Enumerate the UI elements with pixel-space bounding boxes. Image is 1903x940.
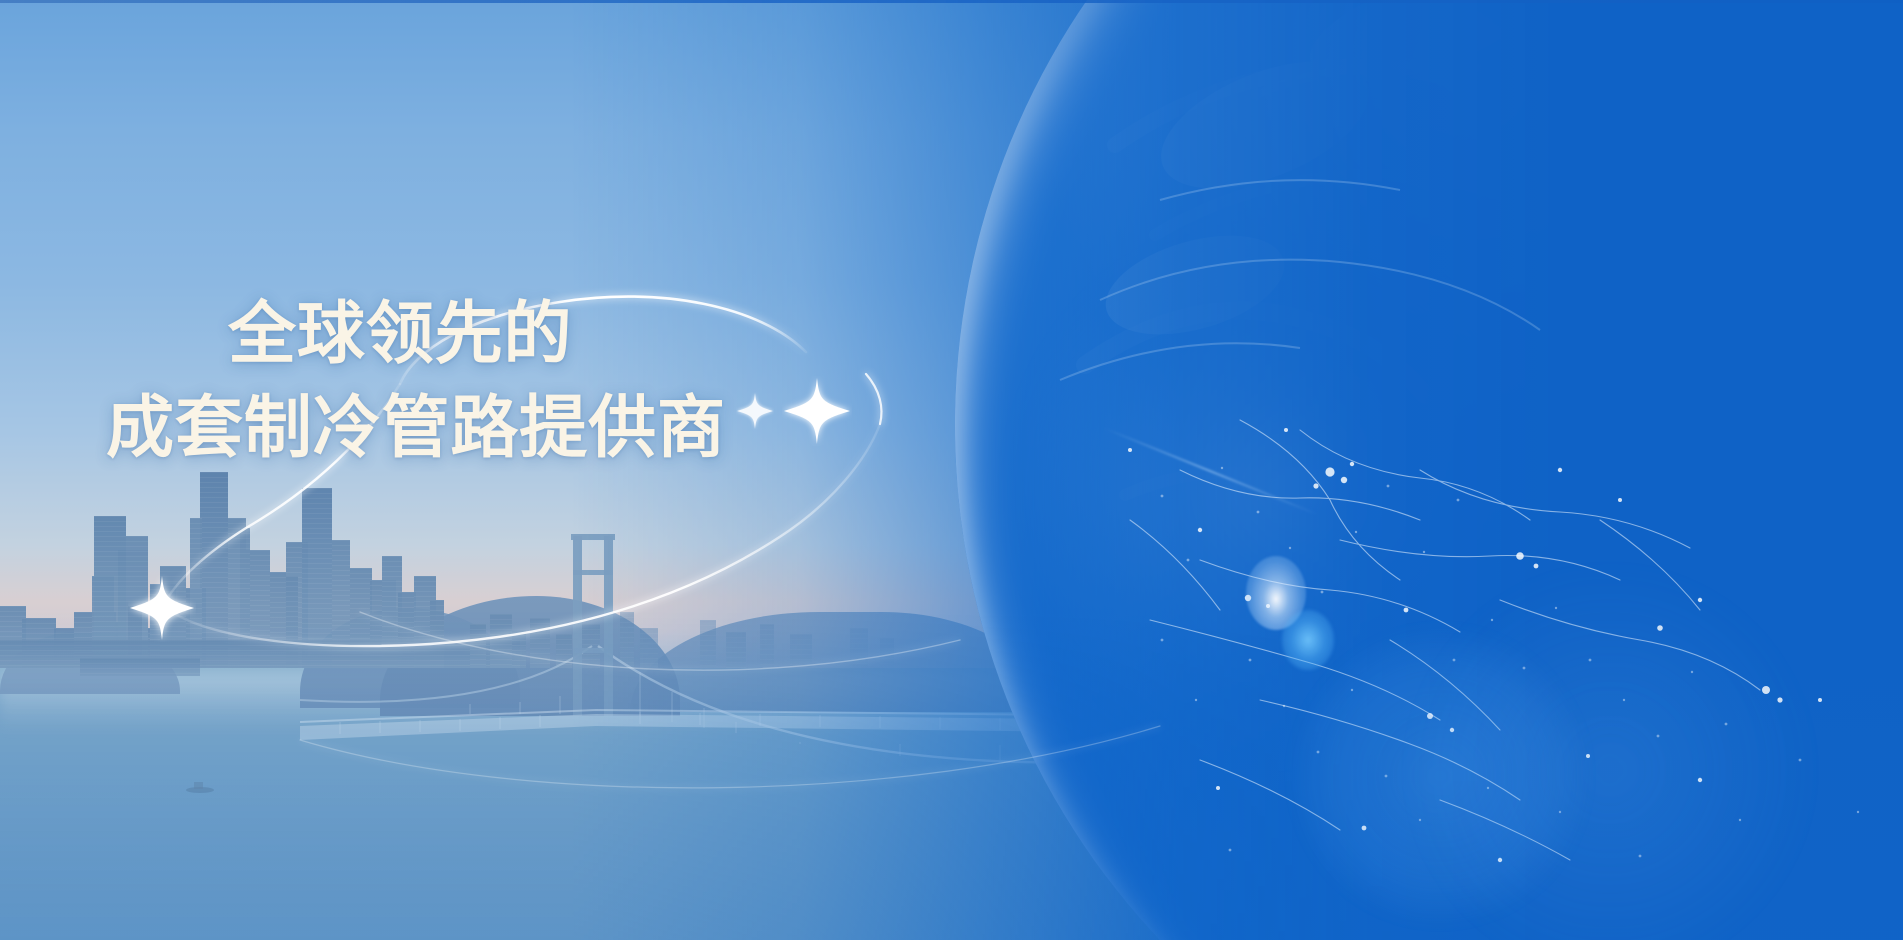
bottom-tint-overlay <box>0 610 1903 940</box>
top-edge-line <box>0 0 1903 3</box>
hero-banner: 全球领先的 成套制冷管路提供商 <box>0 0 1903 940</box>
headline-line-1: 全球领先的 <box>228 300 726 368</box>
hero-headline: 全球领先的 成套制冷管路提供商 <box>106 300 726 462</box>
headline-line-2: 成套制冷管路提供商 <box>106 394 726 462</box>
